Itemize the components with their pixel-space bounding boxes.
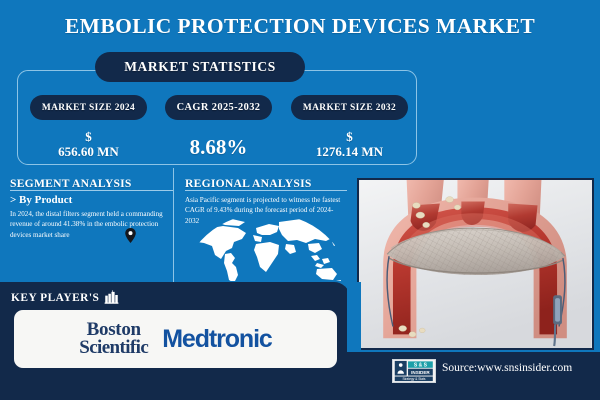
location-pin-icon	[125, 228, 136, 243]
sns-insider-logo-icon: S & S INSIDER Strategy & Stats	[392, 359, 436, 383]
segment-analysis-heading: SEGMENT ANALYSIS	[10, 177, 132, 190]
currency-symbol-2024: $	[85, 129, 92, 144]
segment-analysis-body: In 2024, the distal filters segment held…	[10, 209, 172, 240]
stat-value-market-size-2032: $ 1276.14 MN	[291, 130, 408, 159]
value-2032: 1276.14 MN	[316, 144, 383, 159]
market-statistics-heading: MARKET STATISTICS	[95, 52, 305, 82]
stat-value-market-size-2024: $ 656.60 MN	[30, 130, 147, 159]
source-text: Source:www.snsinsider.com	[442, 362, 572, 374]
blue-accent-strip	[347, 282, 361, 356]
building-icon	[104, 290, 119, 305]
key-players-label: KEY PLAYER'S	[11, 290, 119, 305]
stat-label-market-size-2032: MARKET SIZE 2032	[291, 95, 408, 120]
segment-analysis-subheading: > By Product	[10, 194, 72, 206]
svg-text:S & S: S & S	[414, 362, 428, 368]
stat-label-cagr: CAGR 2025-2032	[165, 95, 272, 120]
key-players-text: KEY PLAYER'S	[11, 292, 99, 304]
logo-bsc-line2: Scientific	[79, 339, 148, 357]
aortic-arch-illustration	[357, 178, 594, 350]
vertical-divider	[173, 168, 174, 283]
currency-symbol-2032: $	[346, 129, 353, 144]
stat-label-market-size-2024: MARKET SIZE 2024	[30, 95, 147, 120]
regional-analysis-heading: REGIONAL ANALYSIS	[185, 177, 312, 190]
world-map-icon	[186, 213, 346, 281]
logo-boston-scientific: Boston Scientific	[79, 321, 148, 357]
page-title: EMBOLIC PROTECTION DEVICES MARKET	[0, 14, 600, 39]
logo-medtronic: Medtronic	[162, 325, 272, 354]
svg-text:Strategy & Stats: Strategy & Stats	[402, 377, 425, 381]
key-players-logo-card: Boston Scientific Medtronic	[14, 310, 337, 368]
regional-heading-rule	[185, 190, 347, 191]
stat-value-cagr: 8.68%	[160, 136, 277, 160]
segment-heading-rule	[10, 190, 173, 191]
infographic-page: EMBOLIC PROTECTION DEVICES MARKET MARKET…	[0, 0, 600, 400]
value-2024: 656.60 MN	[58, 144, 119, 159]
svg-text:INSIDER: INSIDER	[411, 370, 430, 375]
